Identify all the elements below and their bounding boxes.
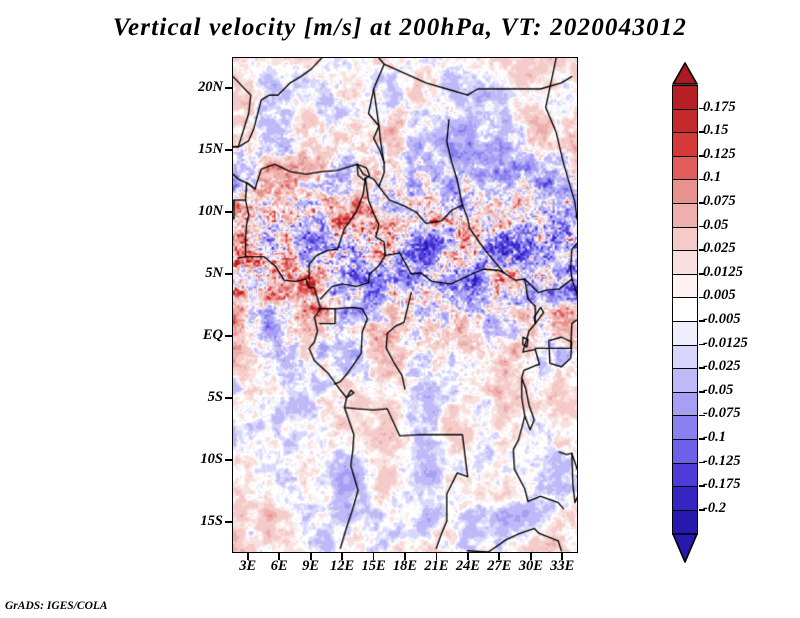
colorbar-band <box>672 392 698 417</box>
colorbar-tick-label: 0.0125 <box>703 265 743 280</box>
colorbar-tick-mark <box>699 297 705 299</box>
colorbar-tick-mark <box>699 249 705 251</box>
colorbar-tick-mark <box>699 202 705 204</box>
colorbar-tick-label: 0.005 <box>703 288 736 303</box>
colorbar-band <box>672 321 698 346</box>
colorbar-tick-label: -0.025 <box>703 359 740 374</box>
y-tick-mark <box>225 149 232 151</box>
y-axis-label: 15S <box>163 513 223 530</box>
colorbar-band <box>672 415 698 440</box>
y-tick-mark <box>225 521 232 523</box>
y-axis-label: 20N <box>163 79 223 96</box>
colorbar-tick-mark <box>699 462 705 464</box>
colorbar-tick-label: -0.0125 <box>703 336 748 351</box>
colorbar-tick-mark <box>699 485 705 487</box>
vertical-velocity-heatmap <box>233 58 577 552</box>
y-axis-label: 10S <box>163 451 223 468</box>
colorbar-tick-label: 0.05 <box>703 218 728 233</box>
colorbar-tick-mark <box>699 108 705 110</box>
y-axis-label: 5S <box>163 389 223 406</box>
colorbar-min-arrow <box>672 533 698 556</box>
colorbar-tick-label: 0.025 <box>703 241 736 256</box>
colorbar-band <box>672 297 698 322</box>
y-tick-mark <box>225 87 232 89</box>
y-tick-mark <box>225 211 232 213</box>
colorbar-tick-mark <box>699 320 705 322</box>
colorbar-tick-mark <box>699 367 705 369</box>
y-tick-mark <box>225 397 232 399</box>
colorbar-band <box>672 227 698 252</box>
colorbar-tick-mark <box>699 131 705 133</box>
y-tick-mark <box>225 459 232 461</box>
page-title: Vertical velocity [m/s] at 200hPa, VT: 2… <box>0 14 800 42</box>
colorbar-tick-label: -0.075 <box>703 406 740 421</box>
y-tick-mark <box>225 335 232 337</box>
colorbar-tick-mark <box>699 438 705 440</box>
colorbar-tick-label: -0.1 <box>703 430 726 445</box>
colorbar-tick-label: 0.075 <box>703 194 736 209</box>
colorbar-tick-mark <box>699 179 705 181</box>
colorbar-tick-mark <box>699 391 705 393</box>
colorbar-tick-mark <box>699 509 705 511</box>
colorbar-tick-label: -0.005 <box>703 312 740 327</box>
grads-attribution: GrADS: IGES/COLA <box>5 600 108 612</box>
colorbar-tick-mark <box>699 155 705 157</box>
colorbar-tick-label: 0.125 <box>703 147 736 162</box>
colorbar-band <box>672 510 698 535</box>
colorbar-tick-label: -0.125 <box>703 454 740 469</box>
colorbar-tick-mark <box>699 273 705 275</box>
colorbar-band <box>672 203 698 228</box>
map-plot-area <box>232 57 578 553</box>
y-axis-label: 5N <box>163 265 223 282</box>
colorbar-band <box>672 85 698 110</box>
colorbar-band <box>672 109 698 134</box>
y-axis-label: 10N <box>163 203 223 220</box>
colorbar-tick-label: -0.05 <box>703 383 733 398</box>
y-tick-mark <box>225 273 232 275</box>
colorbar-band <box>672 463 698 488</box>
x-axis-label: 33E <box>539 558 585 575</box>
colorbar-band <box>672 250 698 275</box>
colorbar-tick-mark <box>699 344 705 346</box>
colorbar-tick-label: 0.15 <box>703 123 728 138</box>
colorbar-band <box>672 132 698 157</box>
colorbar: 0.1750.150.1250.10.0750.050.0250.01250.0… <box>672 62 698 552</box>
colorbar-max-arrow <box>672 62 698 85</box>
colorbar-tick-mark <box>699 226 705 228</box>
colorbar-tick-label: -0.175 <box>703 477 740 492</box>
colorbar-band <box>672 156 698 181</box>
y-axis-label: EQ <box>163 327 223 344</box>
colorbar-band <box>672 486 698 511</box>
colorbar-band <box>672 439 698 464</box>
colorbar-tick-label: 0.175 <box>703 100 736 115</box>
y-axis-label: 15N <box>163 141 223 158</box>
colorbar-band <box>672 274 698 299</box>
colorbar-band <box>672 345 698 370</box>
colorbar-tick-label: -0.2 <box>703 501 726 516</box>
colorbar-band <box>672 179 698 204</box>
colorbar-band <box>672 368 698 393</box>
colorbar-tick-mark <box>699 415 705 417</box>
colorbar-tick-label: 0.1 <box>703 170 721 185</box>
